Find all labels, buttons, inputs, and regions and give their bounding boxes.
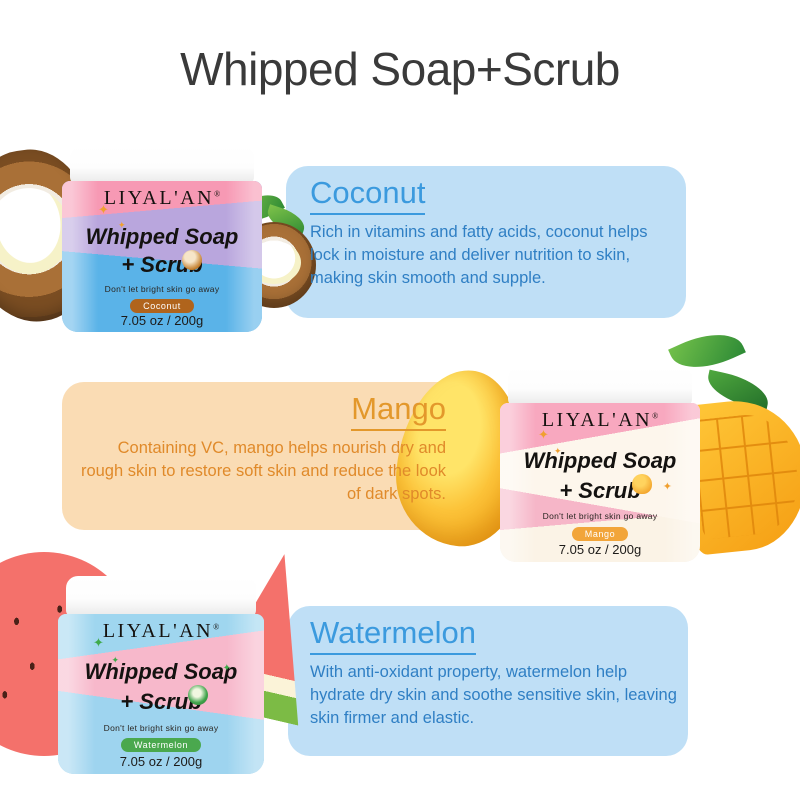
sparkle-icon: ✦ [223,663,231,674]
mango-icon [632,474,652,494]
flavor-heading-mango: Mango [351,392,446,431]
badge-label: Watermelon [121,738,201,752]
brand-text: LIYAL'AN [103,620,213,642]
jar-product-line2: + Scrub [62,252,262,278]
jar-product-line1: Whipped Soap [500,448,700,474]
product-jar-watermelon[interactable]: ✦ ✦ ✦ LIYAL'AN® Whipped Soap + Scrub Don… [58,576,264,774]
sparkle-icon: ✦ [538,427,549,443]
jar-tagline: Don't let bright skin go away [500,511,700,521]
product-infographic: Whipped Soap+Scrub ✦ ✦ LIYAL'AN® Whipped… [0,0,800,800]
flavor-description-watermelon: With anti-oxidant property, watermelon h… [310,661,680,729]
jar-product-line1: Whipped Soap [58,659,264,685]
flavor-description-mango: Containing VC, mango helps nourish dry a… [78,437,446,505]
jar-lid [508,366,692,407]
badge-label: Mango [572,527,629,541]
mango-dice-pattern [691,410,800,540]
jar-brand: LIYAL'AN® [58,620,264,643]
trademark-icon: ® [213,622,219,631]
sparkle-icon: ✦ [118,220,126,231]
product-jar-coconut[interactable]: ✦ ✦ LIYAL'AN® Whipped Soap + Scrub Don't… [62,146,262,332]
jar-lid [66,576,256,618]
flavor-heading-watermelon: Watermelon [310,616,476,655]
jar-flavor-badge: Mango [500,527,700,541]
sparkle-icon: ✦ [112,655,120,666]
jar-flavor-badge: Watermelon [58,738,264,752]
jar-tagline: Don't let bright skin go away [58,723,264,733]
jar-product-line2: + Scrub [58,689,264,715]
badge-label: Coconut [130,299,194,313]
trademark-icon: ® [652,411,658,420]
sparkle-icon: ✦ [93,635,104,651]
trademark-icon: ® [214,189,220,198]
flavor-content-mango: Mango Containing VC, mango helps nourish… [78,392,446,505]
sparkle-icon: ✦ [554,446,562,457]
flavor-content-coconut: Coconut Rich in vitamins and fatty acids… [310,176,670,289]
flavor-description-coconut: Rich in vitamins and fatty acids, coconu… [310,221,670,289]
jar-flavor-badge: Coconut [62,299,262,313]
flavor-heading-coconut: Coconut [310,176,425,215]
jar-weight: 7.05 oz / 200g [58,754,264,769]
jar-weight: 7.05 oz / 200g [500,542,700,557]
flavor-content-watermelon: Watermelon With anti-oxidant property, w… [310,616,680,729]
jar-weight: 7.05 oz / 200g [62,313,262,328]
jar-lid [70,146,254,185]
sparkle-icon: ✦ [663,480,672,493]
jar-tagline: Don't let bright skin go away [62,284,262,294]
jar-brand: LIYAL'AN® [500,409,700,432]
jar-product-line1: Whipped Soap [62,224,262,250]
jar-brand: LIYAL'AN® [62,187,262,210]
page-title: Whipped Soap+Scrub [0,42,800,96]
product-jar-mango[interactable]: ✦ ✦ ✦ LIYAL'AN® Whipped Soap + Scrub Don… [500,366,700,562]
brand-text: LIYAL'AN [542,409,652,431]
sparkle-icon: ✦ [98,202,109,218]
brand-text: LIYAL'AN [104,187,214,209]
